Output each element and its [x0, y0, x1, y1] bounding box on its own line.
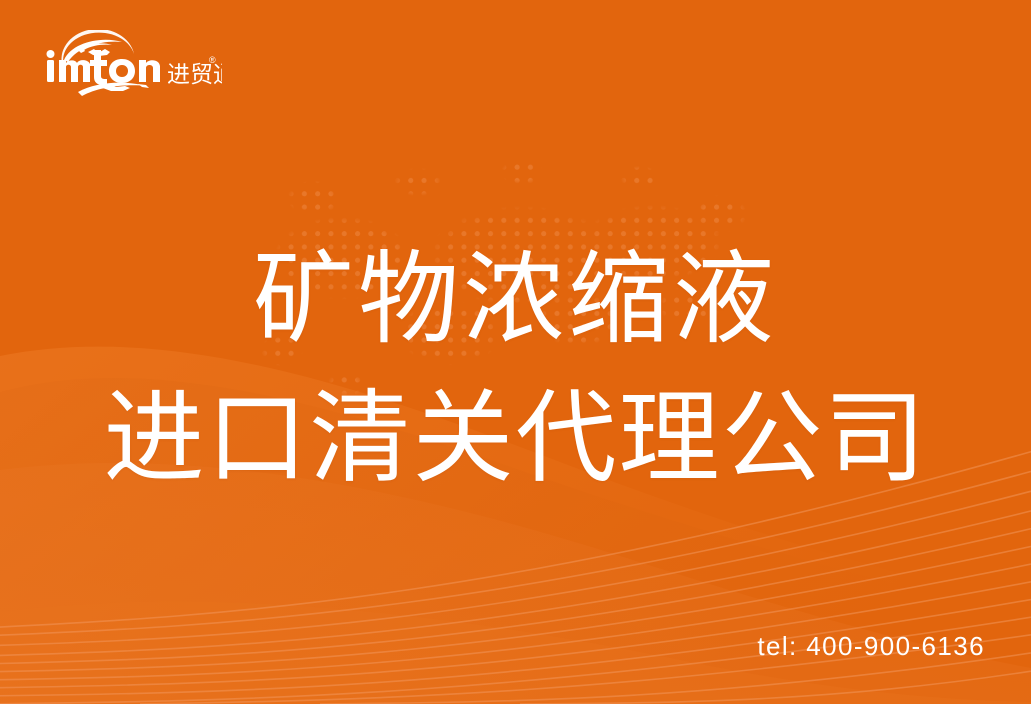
contact-phone: tel: 400-900-6136 [757, 631, 985, 662]
page-title: 矿物浓缩液 进口清关代理公司 [0, 236, 1031, 505]
logo-wordmark-chinese: 进贸通 [167, 62, 222, 88]
headline-line-1: 矿物浓缩液 [0, 236, 1031, 365]
promo-banner: 进贸通 ® 矿物浓缩液 进口清关代理公司 tel: 400-900-6136 [0, 0, 1031, 704]
headline-line-2: 进口清关代理公司 [0, 375, 1031, 504]
registered-mark: ® [209, 55, 216, 65]
brand-logo: 进贸通 ® [42, 30, 222, 102]
